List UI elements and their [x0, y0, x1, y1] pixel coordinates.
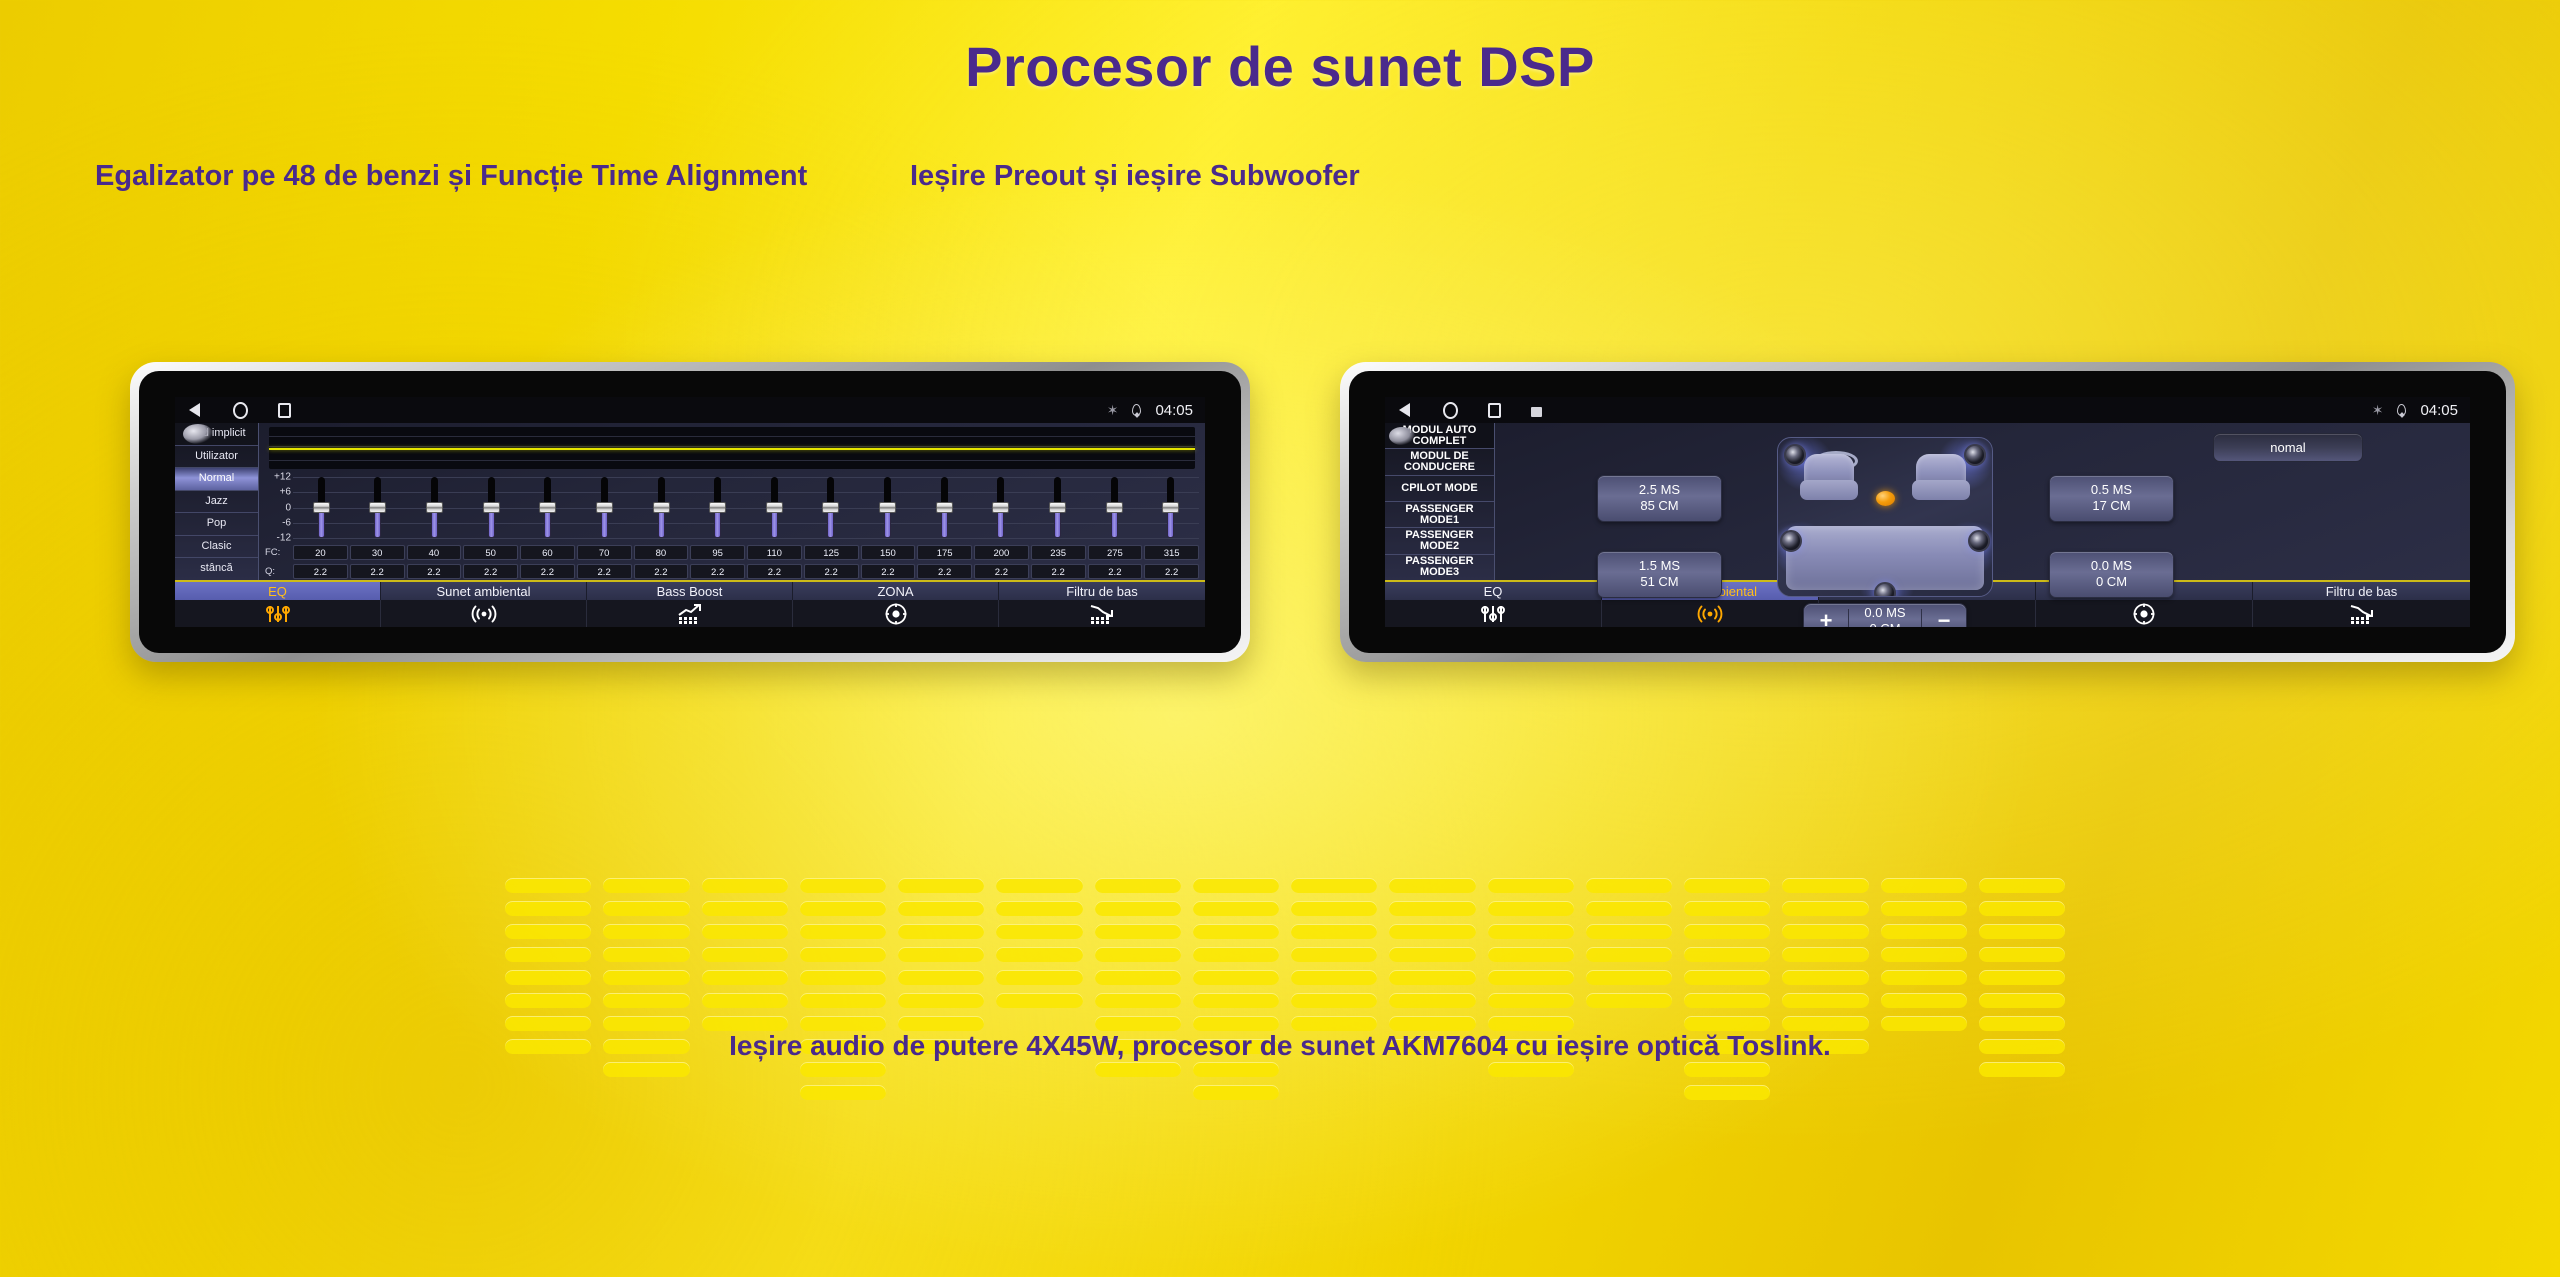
eq-decoration-segment	[1389, 947, 1475, 962]
listening-mode-label: PASSENGER MODE2	[1385, 530, 1494, 552]
q-cell[interactable]: 2.2	[974, 564, 1029, 579]
delay-stepper[interactable]: + 0.0 MS 0 CM −	[1803, 603, 1967, 627]
eq-decoration-segment	[800, 1016, 886, 1031]
soundfield-main-panel: MODUL AUTO COMPLETMODUL DE CONDUCERECPIL…	[1385, 423, 2470, 580]
eq-decoration-segment	[1586, 878, 1672, 893]
listening-mode-modul-auto-complet[interactable]: MODUL AUTO COMPLET	[1385, 423, 1494, 449]
eq-decoration-segment	[1684, 878, 1770, 893]
fc-cell[interactable]: 60	[520, 545, 575, 560]
eq-slider-knob[interactable]	[936, 502, 953, 513]
q-cell[interactable]: 2.2	[634, 564, 689, 579]
eq-decoration-segment	[996, 947, 1082, 962]
tab-zona[interactable]: ZONA	[793, 582, 999, 600]
eq-decoration-segment	[603, 970, 689, 985]
eq-decoration-segment	[800, 901, 886, 916]
eq-decoration-segment	[505, 970, 591, 985]
eq-band-95[interactable]	[689, 473, 746, 542]
eq-decoration-segment	[1193, 947, 1279, 962]
eq-decoration-segment	[800, 1062, 886, 1077]
eq-decoration-segment	[1586, 924, 1672, 939]
eq-decoration-segment	[505, 993, 591, 1008]
eq-decoration-segment	[505, 901, 591, 916]
eq-decoration-segment	[1389, 1016, 1475, 1031]
fc-cell[interactable]: 125	[804, 545, 859, 560]
eq-track-lower	[1167, 509, 1174, 538]
eq-decoration-column	[1782, 878, 1868, 1100]
listening-mode-label: PASSENGER MODE3	[1385, 556, 1494, 578]
eq-decoration-segment	[505, 924, 591, 939]
tab-sunet-ambiental[interactable]: Sunet ambiental	[381, 582, 587, 600]
tab-filtru-de-bas[interactable]: Filtru de bas	[999, 582, 1205, 600]
eq-decoration-segment	[1193, 1016, 1279, 1031]
bass-filter-chart-icon[interactable]	[2253, 600, 2470, 627]
q-cell[interactable]: 2.2	[463, 564, 518, 579]
eq-decoration-segment	[1291, 1016, 1377, 1031]
q-cell[interactable]: 2.2	[520, 564, 575, 579]
navigation-buttons	[187, 402, 291, 419]
eq-slider-knob[interactable]	[879, 502, 896, 513]
listening-mode-modul-de-conducere[interactable]: MODUL DE CONDUCERE	[1385, 449, 1494, 475]
stepper-minus-button[interactable]: −	[1922, 604, 1966, 627]
eq-band-125[interactable]	[803, 473, 860, 542]
bass-filter-chart-icon[interactable]	[999, 600, 1205, 627]
eq-decoration-segment	[1782, 924, 1868, 939]
eq-decoration-segment	[702, 993, 788, 1008]
eq-decoration-segment	[1881, 1016, 1967, 1031]
fc-values: 2030405060708095110125150175200235275315	[293, 545, 1199, 560]
eq-track-lower	[488, 509, 495, 538]
delay-rear-left-button[interactable]: 1.5 MS 51 CM	[1597, 551, 1722, 598]
status-indicators: ✶ 04:05	[1107, 402, 1193, 419]
listening-mode-label: MODUL DE CONDUCERE	[1385, 451, 1494, 473]
equalizer-sliders-icon[interactable]	[1385, 600, 1602, 627]
fc-cell[interactable]: 20	[293, 545, 348, 560]
fc-cell[interactable]: 175	[917, 545, 972, 560]
eq-band-50[interactable]	[463, 473, 520, 542]
seat-front-right	[1910, 448, 1972, 500]
eq-decoration-segment	[1684, 1085, 1770, 1100]
eq-band-sliders	[293, 473, 1199, 542]
eq-decoration-segment	[800, 947, 886, 962]
eq-decoration-segment	[1193, 970, 1279, 985]
status-indicators: ✶ 04:05	[2372, 402, 2458, 419]
eq-slider-knob[interactable]	[1106, 502, 1123, 513]
eq-decoration-segment	[996, 878, 1082, 893]
eq-decoration-segment	[1684, 993, 1770, 1008]
eq-decoration-segment	[1488, 924, 1574, 939]
tab-bar-left: EQSunet ambientalBass BoostZONAFiltru de…	[175, 580, 1205, 627]
eq-slider-knob[interactable]	[653, 502, 670, 513]
delay-front-left-button[interactable]: 2.5 MS 85 CM	[1597, 475, 1722, 522]
eq-decoration-segment	[1193, 1062, 1279, 1077]
eq-decoration-segment	[1979, 1062, 2065, 1077]
eq-decoration-segment	[996, 993, 1082, 1008]
eq-decoration-segment	[800, 993, 886, 1008]
eq-band-110[interactable]	[746, 473, 803, 542]
eq-decoration-segment	[1782, 947, 1868, 962]
eq-slider-knob[interactable]	[766, 502, 783, 513]
recents-square-icon[interactable]	[278, 403, 291, 418]
eq-decoration-segment	[1684, 901, 1770, 916]
q-row: Q: 2.22.22.22.22.22.22.22.22.22.22.22.22…	[259, 561, 1205, 580]
eq-decoration-column	[1389, 878, 1475, 1100]
eq-decoration-segment	[1586, 970, 1672, 985]
db-axis-labels: +12+60-6-12	[263, 473, 293, 542]
eq-decoration-segment	[1881, 924, 1967, 939]
eq-decoration-segment	[702, 970, 788, 985]
fc-row: FC: 203040506070809511012515017520023527…	[259, 542, 1205, 561]
eq-decoration-segment	[1782, 993, 1868, 1008]
eq-decoration-segment	[1095, 1016, 1181, 1031]
eq-band-175[interactable]	[916, 473, 973, 542]
eq-decoration-segment	[898, 947, 984, 962]
eq-decoration-segment	[1881, 947, 1967, 962]
listening-mode-passenger-mode3[interactable]: PASSENGER MODE3	[1385, 555, 1494, 580]
eq-decoration-segment	[1979, 970, 2065, 985]
eq-decoration-segment	[1488, 901, 1574, 916]
eq-decoration-segment	[603, 924, 689, 939]
car-soundfield-diagram[interactable]	[1777, 437, 1993, 597]
soundfield-app-body: MODUL AUTO COMPLETMODUL DE CONDUCERECPIL…	[1385, 423, 2470, 580]
listening-mode-label: CPILOT MODE	[1401, 483, 1477, 494]
eq-preset-label: Normal	[199, 473, 234, 485]
tab-eq[interactable]: EQ	[175, 582, 381, 600]
eq-decoration-segment	[1979, 993, 2065, 1008]
q-cell[interactable]: 2.2	[861, 564, 916, 579]
tab-filtru-de-bas[interactable]: Filtru de bas	[2253, 582, 2470, 600]
home-circle-icon[interactable]	[1443, 402, 1458, 419]
fc-cell[interactable]: 315	[1144, 545, 1199, 560]
delay-rear-right-button[interactable]: 0.0 MS 0 CM	[2049, 551, 2174, 598]
eq-decoration-segment	[603, 901, 689, 916]
q-cell[interactable]: 2.2	[1031, 564, 1086, 579]
fc-cell[interactable]: 275	[1088, 545, 1143, 560]
eq-decoration-segment	[1095, 924, 1181, 939]
eq-decoration-segment	[1586, 993, 1672, 1008]
eq-decoration-segment	[505, 947, 591, 962]
eq-decoration-column	[1193, 878, 1279, 1100]
eq-decoration-segment	[1881, 970, 1967, 985]
eq-decoration-segment	[1684, 970, 1770, 985]
delay-front-right-button[interactable]: 0.5 MS 17 CM	[2049, 475, 2174, 522]
listening-mode-passenger-mode2[interactable]: PASSENGER MODE2	[1385, 528, 1494, 554]
eq-preset-label: Utilizator	[195, 451, 238, 463]
eq-track-lower	[714, 509, 721, 538]
speaker-icon	[1964, 444, 1986, 466]
eq-decoration-segment	[505, 878, 591, 893]
status-clock: 04:05	[1155, 402, 1193, 419]
tab-labels-left: EQSunet ambientalBass BoostZONAFiltru de…	[175, 582, 1205, 600]
eq-decoration-segment	[1389, 901, 1475, 916]
eq-decoration-segment	[1782, 901, 1868, 916]
eq-slider-knob[interactable]	[483, 502, 500, 513]
eq-band-40[interactable]	[406, 473, 463, 542]
q-cell[interactable]: 2.2	[577, 564, 632, 579]
tab-eq[interactable]: EQ	[1385, 582, 1602, 600]
zone-target-icon[interactable]	[2036, 600, 2253, 627]
fc-cell[interactable]: 235	[1031, 545, 1086, 560]
eq-decoration-segment	[1193, 878, 1279, 893]
recents-square-icon[interactable]	[1488, 403, 1501, 418]
eq-decoration-segment	[1389, 924, 1475, 939]
eq-track-lower	[1111, 509, 1118, 538]
eq-decoration-segment	[1488, 1016, 1574, 1031]
eq-curve-line	[269, 448, 1195, 450]
status-bar-left: ✶ 04:05	[175, 397, 1205, 423]
preset-nomal-button[interactable]: nomal	[2213, 433, 2363, 462]
eq-decoration-segment	[1488, 1062, 1574, 1077]
device-right-soundfield-screen: ✶ 04:05 MODUL AUTO COMPLETMODUL DE CONDU…	[1340, 362, 2515, 662]
eq-preset-clasic[interactable]: Clasic	[175, 536, 258, 559]
eq-preset-utilizator[interactable]: Utilizator	[175, 446, 258, 469]
fc-cell[interactable]: 70	[577, 545, 632, 560]
eq-decoration-segment	[1095, 1062, 1181, 1077]
speaker-icon	[1874, 582, 1896, 597]
q-cell[interactable]: 2.2	[407, 564, 462, 579]
eq-decoration-segment	[1979, 947, 2065, 962]
eq-track-lower	[884, 509, 891, 538]
eq-decoration-segment	[1586, 947, 1672, 962]
eq-decoration-column	[1684, 878, 1770, 1100]
eq-decoration-segment	[1488, 878, 1574, 893]
location-pin-icon	[2397, 404, 2406, 416]
eq-preset-jazz[interactable]: Jazz	[175, 491, 258, 514]
eq-decoration-segment	[603, 947, 689, 962]
eq-band-20[interactable]	[293, 473, 350, 542]
eq-slider-knob[interactable]	[369, 502, 386, 513]
stepper-value-cm: 0 CM	[1869, 621, 1900, 627]
q-cell[interactable]: 2.2	[747, 564, 802, 579]
eq-band-315[interactable]	[1142, 473, 1199, 542]
eq-preset-normal[interactable]: Normal	[175, 468, 258, 491]
fc-cell[interactable]: 110	[747, 545, 802, 560]
speaker-icon	[1780, 530, 1802, 552]
stepper-value: 0.0 MS 0 CM	[1849, 604, 1921, 627]
eq-preset-label: stâncă	[200, 563, 232, 575]
stepper-value-ms: 0.0 MS	[1864, 605, 1905, 621]
eq-decoration-segment	[996, 970, 1082, 985]
listening-mode-cpilot-mode[interactable]: CPILOT MODE	[1385, 476, 1494, 502]
eq-preset-label: Mod implicit	[187, 428, 245, 440]
eq-app-body: Mod implicitUtilizatorNormalJazzPopClasi…	[175, 423, 1205, 580]
eq-decoration-segment	[1684, 1016, 1770, 1031]
navigation-buttons	[1397, 402, 1542, 419]
delay-rear-right-cm: 0 CM	[2050, 574, 2173, 590]
eq-decoration-segment	[898, 993, 984, 1008]
eq-track-lower	[771, 509, 778, 538]
eq-decoration-segment	[1193, 1085, 1279, 1100]
eq-decoration-segment	[1291, 993, 1377, 1008]
eq-slider-knob[interactable]	[426, 502, 443, 513]
eq-slider-knob[interactable]	[539, 502, 556, 513]
eq-decoration-segment	[1095, 947, 1181, 962]
eq-decoration-column	[1095, 878, 1181, 1100]
listening-mode-label: PASSENGER MODE1	[1385, 504, 1494, 526]
eq-decoration-segment	[996, 924, 1082, 939]
eq-band-80[interactable]	[633, 473, 690, 542]
eq-decoration-segment	[1291, 970, 1377, 985]
eq-track-lower	[658, 509, 665, 538]
eq-decoration-segment	[1291, 947, 1377, 962]
eq-preset-stâncă[interactable]: stâncă	[175, 558, 258, 580]
subheading-right: Ieșire Preout și ieșire Subwoofer	[910, 160, 1360, 193]
db-axis-tick: 0	[285, 502, 291, 513]
stepper-plus-button[interactable]: +	[1804, 604, 1848, 627]
seat-front-left	[1798, 448, 1860, 500]
eq-decoration-segment	[898, 878, 984, 893]
page-title: Procesor de sunet DSP	[0, 34, 2560, 99]
q-row-label: Q:	[263, 566, 293, 577]
eq-preset-label: Clasic	[202, 541, 232, 553]
speaker-icon	[1784, 444, 1806, 466]
eq-decoration-column	[1291, 878, 1377, 1100]
eq-decoration-segment	[702, 901, 788, 916]
eq-band-30[interactable]	[350, 473, 407, 542]
delay-rear-left-cm: 51 CM	[1598, 574, 1721, 590]
eq-slider-grid: +12+60-6-12	[259, 471, 1205, 542]
surround-waves-icon[interactable]	[1602, 600, 1819, 627]
eq-decoration-segment	[800, 1085, 886, 1100]
eq-decoration-segment	[603, 878, 689, 893]
eq-decoration-column	[800, 878, 886, 1100]
subheading-left: Egalizator pe 48 de benzi și Funcție Tim…	[95, 160, 807, 193]
eq-decoration-segment	[1095, 878, 1181, 893]
eq-decoration-column	[702, 878, 788, 1100]
eq-slider-knob[interactable]	[1049, 502, 1066, 513]
eq-slider-knob[interactable]	[992, 502, 1009, 513]
fc-cell[interactable]: 40	[407, 545, 462, 560]
eq-decoration-segment	[1488, 993, 1574, 1008]
eq-decoration-segment	[898, 924, 984, 939]
eq-decoration-segment	[1389, 993, 1475, 1008]
q-cell[interactable]: 2.2	[293, 564, 348, 579]
q-cell[interactable]: 2.2	[917, 564, 972, 579]
eq-band-150[interactable]	[859, 473, 916, 542]
eq-preset-label: Jazz	[205, 496, 228, 508]
eq-track-lower	[997, 509, 1004, 538]
eq-slider-knob[interactable]	[1162, 502, 1179, 513]
eq-track-lower	[374, 509, 381, 538]
eq-slider-knob[interactable]	[822, 502, 839, 513]
eq-decoration-segment	[1979, 878, 2065, 893]
home-circle-icon[interactable]	[233, 402, 248, 419]
fc-cell[interactable]: 150	[861, 545, 916, 560]
eq-decoration-segment	[1979, 924, 2065, 939]
bottom-caption: Ieșire audio de putere 4X45W, procesor d…	[0, 1030, 2560, 1062]
device-left-eq-screen: ✶ 04:05 Mod implicitUtilizatorNormalJazz…	[130, 362, 1250, 662]
screenshot-icon[interactable]	[1531, 407, 1542, 417]
eq-decoration-segment	[1881, 878, 1967, 893]
eq-decoration-segment	[1782, 878, 1868, 893]
q-cell[interactable]: 2.2	[804, 564, 859, 579]
listener-position-dot[interactable]	[1876, 491, 1895, 506]
q-cell[interactable]: 2.2	[1144, 564, 1199, 579]
eq-decoration-segment	[1979, 1016, 2065, 1031]
eq-band-275[interactable]	[1086, 473, 1143, 542]
back-arrow-icon[interactable]	[187, 402, 203, 418]
eq-decoration-column	[898, 878, 984, 1100]
eq-decoration-segment	[1684, 1062, 1770, 1077]
eq-decoration-segment	[1979, 901, 2065, 916]
eq-decoration-segment	[1095, 970, 1181, 985]
eq-track-lower	[601, 509, 608, 538]
listening-mode-passenger-mode1[interactable]: PASSENGER MODE1	[1385, 502, 1494, 528]
eq-preset-list: Mod implicitUtilizatorNormalJazzPopClasi…	[175, 423, 259, 580]
zone-target-icon[interactable]	[793, 600, 999, 627]
eq-decoration-column	[603, 878, 689, 1100]
db-axis-tick: -12	[277, 532, 291, 543]
back-arrow-icon[interactable]	[1397, 402, 1413, 418]
delay-front-left-cm: 85 CM	[1598, 498, 1721, 514]
location-pin-icon	[1132, 404, 1141, 416]
eq-decoration-segment	[1291, 901, 1377, 916]
surround-waves-icon[interactable]	[381, 600, 587, 627]
db-axis-tick: -6	[282, 517, 291, 528]
device-bezel: ✶ 04:05 Mod implicitUtilizatorNormalJazz…	[139, 371, 1241, 653]
eq-decoration-segment	[800, 970, 886, 985]
eq-preset-mod-implicit[interactable]: Mod implicit	[175, 423, 258, 446]
tab-bass-boost[interactable]: Bass Boost	[587, 582, 793, 600]
delay-rear-right-ms: 0.0 MS	[2050, 558, 2173, 574]
eq-decoration-segment	[800, 878, 886, 893]
fc-cell[interactable]: 50	[463, 545, 518, 560]
eq-decoration-segment	[1095, 993, 1181, 1008]
eq-response-curve	[269, 427, 1195, 469]
eq-track-lower	[1054, 509, 1061, 538]
eq-decoration-column	[1979, 878, 2065, 1100]
eq-decoration-segment	[1193, 924, 1279, 939]
bass-boost-chart-icon[interactable]	[587, 600, 793, 627]
fc-cell[interactable]: 200	[974, 545, 1029, 560]
eq-decoration-column	[1881, 878, 1967, 1100]
eq-band-60[interactable]	[520, 473, 577, 542]
fc-cell[interactable]: 80	[634, 545, 689, 560]
q-cell[interactable]: 2.2	[690, 564, 745, 579]
eq-decoration-segment	[1586, 901, 1672, 916]
eq-track-lower	[431, 509, 438, 538]
delay-front-right-cm: 17 CM	[2050, 498, 2173, 514]
q-cell[interactable]: 2.2	[1088, 564, 1143, 579]
eq-band-235[interactable]	[1029, 473, 1086, 542]
q-values: 2.22.22.22.22.22.22.22.22.22.22.22.22.22…	[293, 564, 1199, 579]
eq-decoration-segment	[702, 947, 788, 962]
eq-decoration-segment	[1684, 924, 1770, 939]
bluetooth-icon: ✶	[1107, 402, 1119, 419]
db-axis-tick: +12	[274, 472, 291, 483]
eq-decoration-segment	[1488, 947, 1574, 962]
fc-cell[interactable]: 95	[690, 545, 745, 560]
eq-decoration-segment	[702, 924, 788, 939]
eq-decoration-segment	[1389, 878, 1475, 893]
eq-decoration-segment	[1291, 924, 1377, 939]
eq-main-panel: +12+60-6-12 FC: 203040506070809511012515…	[259, 423, 1205, 580]
eq-decoration-segment	[1193, 901, 1279, 916]
eq-band-70[interactable]	[576, 473, 633, 542]
eq-decoration-column	[1488, 878, 1574, 1100]
eq-decoration-segment	[1782, 970, 1868, 985]
eq-slider-knob[interactable]	[709, 502, 726, 513]
tab-icons-left	[175, 600, 1205, 627]
equalizer-sliders-icon[interactable]	[175, 600, 381, 627]
q-cell[interactable]: 2.2	[350, 564, 405, 579]
eq-slider-knob[interactable]	[313, 502, 330, 513]
eq-band-200[interactable]	[973, 473, 1030, 542]
eq-slider-knob[interactable]	[596, 502, 613, 513]
fc-cell[interactable]: 30	[350, 545, 405, 560]
db-axis-tick: +6	[280, 487, 291, 498]
eq-preset-pop[interactable]: Pop	[175, 513, 258, 536]
fc-row-label: FC:	[263, 547, 293, 558]
